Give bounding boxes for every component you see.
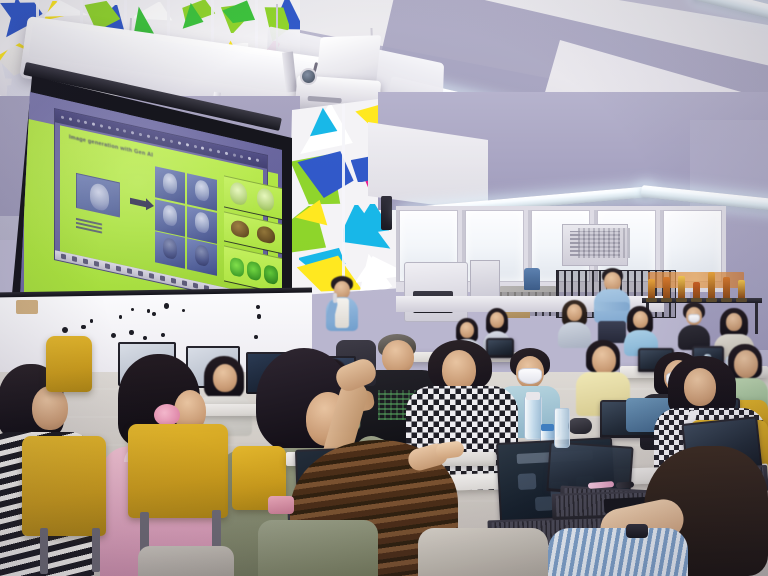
classroom-chair <box>46 336 92 392</box>
chair-leg <box>40 528 48 574</box>
whiteboard-magnet <box>119 315 122 318</box>
taskbar-icon <box>72 256 77 262</box>
projector-lens-icon <box>300 68 317 85</box>
trophy <box>708 272 715 298</box>
presenter-logo-watermark <box>76 217 102 234</box>
toolbar-control-icon <box>256 158 259 162</box>
wall-mounted-speaker <box>381 196 392 230</box>
toolbar-control-icon <box>233 153 236 157</box>
bottle-cap <box>526 392 540 400</box>
toolbar-control-icon <box>147 134 150 138</box>
toolbar-control-icon <box>225 152 228 156</box>
computer-mouse <box>568 418 592 434</box>
toolbar-control-icon <box>116 128 119 132</box>
whiteboard-magnet <box>81 325 86 330</box>
handheld-microphone <box>333 293 337 303</box>
taskbar-icon <box>182 280 187 286</box>
classroom-photo-scene: Image generation with Gen AI <box>0 0 768 576</box>
transformation-arrow-icon <box>130 198 147 208</box>
attendee-striped-blue <box>548 462 768 576</box>
trophy <box>723 277 730 298</box>
laboratory-equipment <box>404 262 468 322</box>
taskbar-icon <box>171 278 176 284</box>
whiteboard-magnet <box>254 335 258 339</box>
whiteboard-magnet <box>164 303 170 309</box>
toolbar-control-icon <box>178 141 181 145</box>
laptop-app-tile <box>518 473 537 490</box>
toolbar-control-icon <box>155 136 158 140</box>
toolbar-control-icon <box>209 148 212 152</box>
taskbar-icon <box>193 283 198 289</box>
personal-item <box>268 496 294 514</box>
whiteboard-magnet <box>62 327 68 333</box>
toolbar-control-icon <box>162 138 165 142</box>
toolbar-control-icon <box>248 157 251 161</box>
toolbar-control-icon <box>77 119 80 123</box>
taskbar-icon <box>83 258 88 264</box>
toolbar-control-icon <box>217 150 220 154</box>
taskbar-icon <box>127 268 132 274</box>
taskbar-icon <box>105 263 110 269</box>
trophy <box>738 280 745 298</box>
generated-portrait-cell <box>155 231 185 269</box>
presenter-with-microphone <box>322 276 362 338</box>
taskbar-icon <box>138 270 143 276</box>
whiteboard-magnet <box>90 319 93 322</box>
toolbar-control-icon <box>123 129 126 133</box>
window-mullion <box>396 210 399 282</box>
toolbar-control-icon <box>100 124 103 128</box>
trophy <box>678 276 685 298</box>
classroom-chair <box>22 436 106 536</box>
attendee-trousers <box>138 546 234 576</box>
robot-model <box>524 268 540 290</box>
mural-panel-separator <box>342 96 345 296</box>
generated-portrait-cell <box>187 206 217 244</box>
toolbar-control-icon <box>69 117 72 121</box>
toolbar-control-icon <box>186 143 189 147</box>
chair-leg <box>92 528 100 572</box>
attendee-masked-white <box>678 302 710 350</box>
taskbar-icon <box>149 273 154 279</box>
toolbar-control-icon <box>240 155 243 159</box>
toolbar-control-icon <box>139 133 142 137</box>
illustration-panel-column <box>224 175 282 294</box>
generated-portrait-cell <box>187 173 217 211</box>
toolbar-control-icon <box>194 145 197 149</box>
toolbar-control-icon <box>108 126 111 130</box>
bottle-cap <box>541 424 554 431</box>
whiteboard-marker-holder <box>16 300 38 314</box>
generated-portrait-cell <box>155 166 185 204</box>
source-portrait-photo <box>76 173 120 218</box>
whiteboard-magnet <box>161 333 165 337</box>
taskbar-icon <box>160 275 165 281</box>
trophy <box>663 277 670 298</box>
classroom-chair <box>128 424 228 518</box>
toolbar-control-icon <box>131 131 134 135</box>
generated-portrait-cell <box>155 199 185 237</box>
whiteboard-magnet <box>182 309 185 312</box>
taskbar-icon <box>61 254 66 260</box>
toolbar-control-icon <box>170 140 173 144</box>
attendee-trousers <box>258 520 378 576</box>
trophy <box>648 279 655 298</box>
whiteboard-magnet <box>147 309 150 312</box>
generated-portrait-cell <box>187 238 217 276</box>
water-bottle <box>554 408 570 448</box>
toolbar-control-icon <box>84 121 87 125</box>
hair-scrunchie <box>154 404 180 426</box>
whiteboard-magnet <box>257 314 261 318</box>
smart-watch <box>626 524 648 538</box>
generated-portrait-grid <box>155 166 217 276</box>
toolbar-control-icon <box>92 122 95 126</box>
taskbar-icon <box>94 261 99 267</box>
whiteboard-magnet <box>129 330 134 335</box>
toolbar-control-icon <box>61 116 64 120</box>
taskbar-icon <box>116 266 121 272</box>
toolbar-control-icon <box>201 146 204 150</box>
attendee-trousers <box>418 528 548 576</box>
trophy <box>693 282 700 298</box>
air-conditioner-grille <box>578 228 630 258</box>
